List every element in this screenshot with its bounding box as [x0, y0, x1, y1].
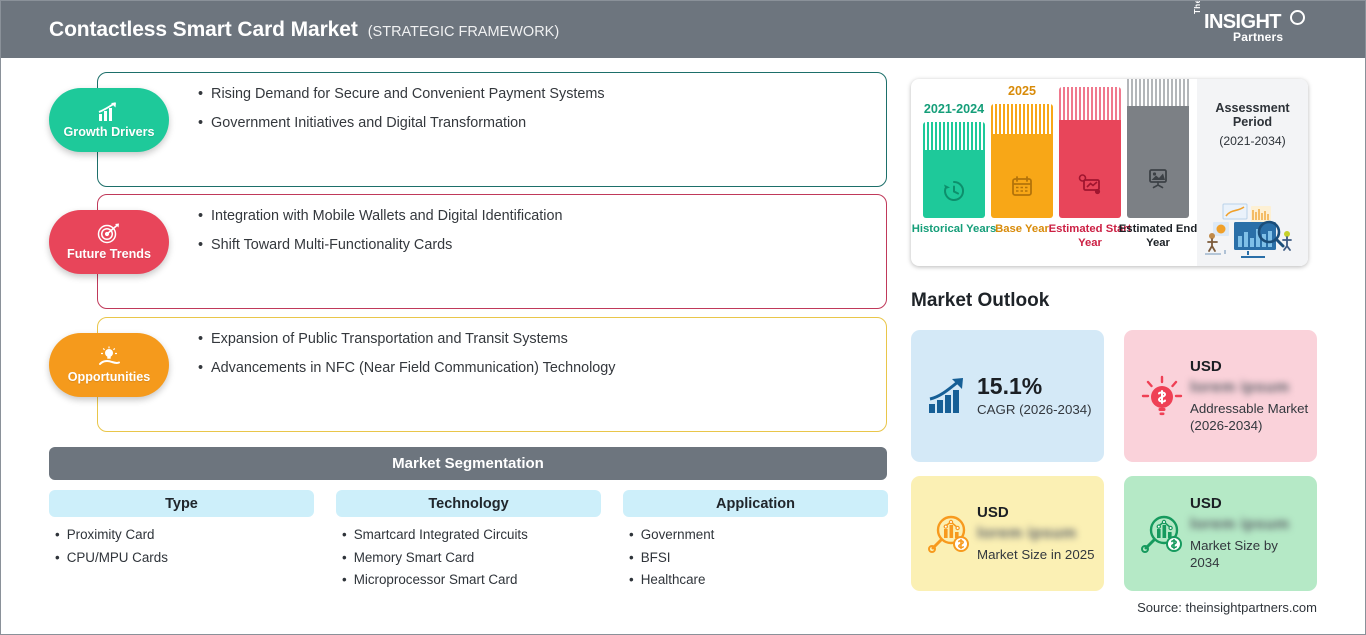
badge-opportunities[interactable]: Opportunities: [49, 333, 169, 397]
page-title: Contactless Smart Card Market: [49, 18, 358, 42]
blurred-value: lorem ipsum: [1190, 516, 1309, 534]
segmentation-column-items: Proximity Card CPU/MPU Cards: [49, 528, 314, 565]
outlook-card-cagr[interactable]: 15.1% CAGR (2026-2034): [911, 330, 1104, 462]
currency-label: USD: [1190, 358, 1309, 375]
list-item: Smartcard Integrated Circuits: [342, 528, 601, 543]
analytics-dashboard-illustration: [1201, 198, 1305, 260]
currency-label: USD: [1190, 495, 1309, 512]
page-header: Contactless Smart Card Market (STRATEGIC…: [1, 1, 1366, 58]
market-outlook-title: Market Outlook: [911, 290, 1049, 312]
list-item: Rising Demand for Secure and Convenient …: [198, 87, 866, 103]
cagr-label: CAGR (2026-2034): [977, 402, 1096, 419]
segmentation-column-title: Technology: [336, 490, 601, 517]
lightbulb-dollar-icon: [1134, 374, 1190, 418]
badge-label: Growth Drivers: [64, 125, 155, 139]
market-segmentation-header: Market Segmentation: [49, 447, 887, 480]
timeline-bar-estimated-end: 2034 Estimated End Year: [1127, 79, 1189, 218]
outlook-card-body: 15.1% CAGR (2026-2034): [977, 374, 1104, 419]
badge-growth-drivers[interactable]: Growth Drivers: [49, 88, 169, 152]
opportunities-bullets: Expansion of Public Transportation and T…: [98, 318, 886, 391]
settings-chart-icon: [1076, 171, 1104, 197]
market-size-2034-label: Market Size by 2034: [1190, 538, 1309, 571]
cagr-value: 15.1%: [977, 374, 1096, 398]
outlook-card-body: USD lorem ipsum Addressable Market (2026…: [1190, 358, 1317, 434]
timeline-bar-base-year: 2025 Base Year: [991, 104, 1053, 218]
list-item: Government Initiatives and Digital Trans…: [198, 116, 866, 132]
calendar-icon: [1008, 174, 1036, 200]
list-item: CPU/MPU Cards: [55, 551, 314, 566]
future-trends-panel: Integration with Mobile Wallets and Digi…: [97, 194, 887, 309]
addressable-market-label: Addressable Market (2026-2034): [1190, 401, 1309, 434]
outlook-card-market-size-2025[interactable]: USD lorem ipsum Market Size in 2025: [911, 476, 1104, 591]
list-item: Shift Toward Multi-Functionality Cards: [198, 238, 866, 254]
segmentation-column-application: Application Government BFSI Healthcare: [623, 490, 888, 596]
lightbulb-hand-icon: [96, 346, 122, 368]
list-item: BFSI: [629, 551, 888, 566]
timeline-bar-estimated-start: 2026 Estimated Start Year: [1059, 87, 1121, 218]
list-item: Microprocessor Smart Card: [342, 573, 601, 588]
bar-chart-arrow-up-icon: [921, 376, 977, 416]
logo-ring-icon: [1290, 10, 1305, 25]
magnifier-bar-chart-dollar-icon: [1134, 512, 1190, 556]
blurred-value: lorem ipsum: [977, 525, 1096, 543]
target-dart-icon: [96, 223, 122, 245]
assessment-period-range: (2021-2034): [1197, 134, 1308, 148]
insight-partners-logo[interactable]: The INSIGHT Partners: [1193, 11, 1309, 49]
assessment-period-chart: 2021-2024 Historical Years 2025: [911, 79, 1308, 266]
timeline-bar-label: Estimated End Year: [1113, 223, 1203, 251]
market-size-2025-label: Market Size in 2025: [977, 547, 1096, 564]
growth-drivers-bullets: Rising Demand for Secure and Convenient …: [98, 73, 886, 146]
outlook-card-body: USD lorem ipsum Market Size in 2025: [977, 504, 1104, 564]
list-item: Proximity Card: [55, 528, 314, 543]
timeline-bar-year: 2026: [1059, 79, 1121, 81]
assessment-title-line1: Assessment: [1197, 101, 1308, 115]
magnifier-bar-chart-dollar-icon: [921, 512, 977, 556]
list-item: Memory Smart Card: [342, 551, 601, 566]
framework-column: Rising Demand for Secure and Convenient …: [1, 58, 906, 635]
list-item: Advancements in NFC (Near Field Communic…: [198, 361, 866, 377]
list-item: Healthcare: [629, 573, 888, 588]
timeline-bar-historical: 2021-2024 Historical Years: [923, 122, 985, 218]
list-item: Integration with Mobile Wallets and Digi…: [198, 209, 866, 225]
clock-history-icon: [940, 178, 968, 204]
segmentation-column-items: Government BFSI Healthcare: [623, 528, 888, 588]
market-segmentation-title: Market Segmentation: [392, 455, 544, 472]
segmentation-column-technology: Technology Smartcard Integrated Circuits…: [336, 490, 601, 596]
timeline-bar-year: 2025: [991, 84, 1053, 98]
segmentation-column-type: Type Proximity Card CPU/MPU Cards: [49, 490, 314, 573]
bar-chart-growth-icon: [96, 101, 122, 123]
list-item: Government: [629, 528, 888, 543]
outlook-card-body: USD lorem ipsum Market Size by 2034: [1190, 495, 1317, 571]
assessment-period-label-panel: Assessment Period (2021-2034): [1197, 79, 1308, 266]
header-title-group: Contactless Smart Card Market (STRATEGIC…: [49, 18, 559, 42]
badge-label: Future Trends: [67, 247, 151, 261]
assessment-title-line2: Period: [1197, 115, 1308, 129]
timeline-bar-year: 2021-2024: [923, 102, 985, 116]
outlook-card-market-size-2034[interactable]: USD lorem ipsum Market Size by 2034: [1124, 476, 1317, 591]
future-trends-bullets: Integration with Mobile Wallets and Digi…: [98, 195, 886, 268]
opportunities-panel: Expansion of Public Transportation and T…: [97, 317, 887, 432]
timeline-bars: 2021-2024 Historical Years 2025: [911, 79, 1197, 266]
logo-the-text: The: [1193, 0, 1202, 14]
infographic-page: Contactless Smart Card Market (STRATEGIC…: [0, 0, 1366, 635]
list-item: Expansion of Public Transportation and T…: [198, 332, 866, 348]
source-attribution: Source: theinsightpartners.com: [911, 600, 1317, 615]
growth-drivers-panel: Rising Demand for Secure and Convenient …: [97, 72, 887, 187]
presentation-screen-icon: [1144, 165, 1172, 191]
outlook-card-addressable-market[interactable]: USD lorem ipsum Addressable Market (2026…: [1124, 330, 1317, 462]
logo-partners-text: Partners: [1233, 30, 1283, 44]
page-subtitle: (STRATEGIC FRAMEWORK): [368, 24, 559, 40]
segmentation-column-items: Smartcard Integrated Circuits Memory Sma…: [336, 528, 601, 588]
blurred-value: lorem ipsum: [1190, 379, 1309, 397]
segmentation-column-title: Type: [49, 490, 314, 517]
segmentation-column-title: Application: [623, 490, 888, 517]
outlook-column: 2021-2024 Historical Years 2025: [906, 58, 1366, 635]
badge-label: Opportunities: [68, 370, 151, 384]
badge-future-trends[interactable]: Future Trends: [49, 210, 169, 274]
currency-label: USD: [977, 504, 1096, 521]
